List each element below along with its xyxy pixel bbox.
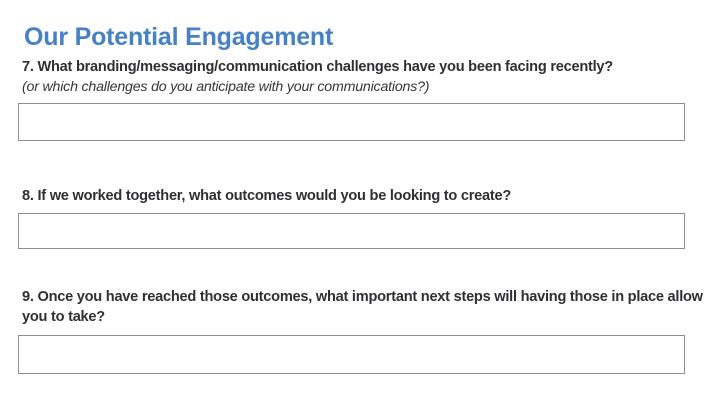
question-block-8: 8. If we worked together, what outcomes …	[0, 186, 727, 249]
question-7-sublabel: (or which challenges do you anticipate w…	[0, 77, 727, 97]
question-8-answer-input[interactable]	[18, 213, 685, 249]
page-title: Our Potential Engagement	[24, 21, 333, 53]
question-7-label: 7. What branding/messaging/communication…	[0, 57, 727, 77]
question-block-7: 7. What branding/messaging/communication…	[0, 57, 727, 141]
question-9-answer-input[interactable]	[18, 335, 685, 374]
question-block-9: 9. Once you have reached those outcomes,…	[0, 287, 727, 374]
question-7-answer-input[interactable]	[18, 103, 685, 141]
question-9-label: 9. Once you have reached those outcomes,…	[0, 287, 727, 327]
question-8-label: 8. If we worked together, what outcomes …	[0, 186, 727, 206]
form-page: Our Potential Engagement 7. What brandin…	[0, 0, 727, 407]
